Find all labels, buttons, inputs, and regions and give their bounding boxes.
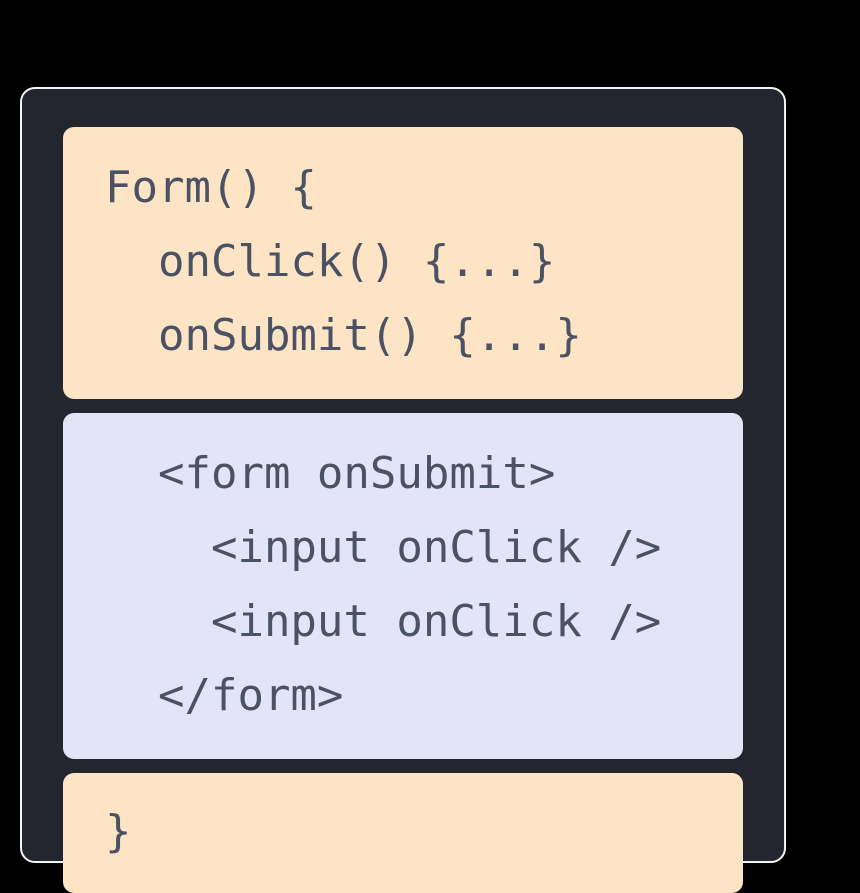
component-block: Form() { onClick() {...} onSubmit() {...…	[63, 127, 743, 399]
code-line: <input onClick />	[63, 585, 743, 659]
code-card: Form() { onClick() {...} onSubmit() {...…	[20, 87, 786, 863]
code-line: </form>	[63, 659, 743, 733]
code-line: onSubmit() {...}	[63, 299, 743, 373]
code-line: <input onClick />	[63, 511, 743, 585]
code-line: }	[63, 795, 743, 869]
code-line: <form onSubmit>	[63, 437, 743, 511]
page-stage: Form() { onClick() {...} onSubmit() {...…	[0, 0, 860, 874]
code-line: Form() {	[63, 151, 743, 225]
closing-block: }	[63, 773, 743, 893]
code-line: onClick() {...}	[63, 225, 743, 299]
markup-block: <form onSubmit> <input onClick /> <input…	[63, 413, 743, 759]
